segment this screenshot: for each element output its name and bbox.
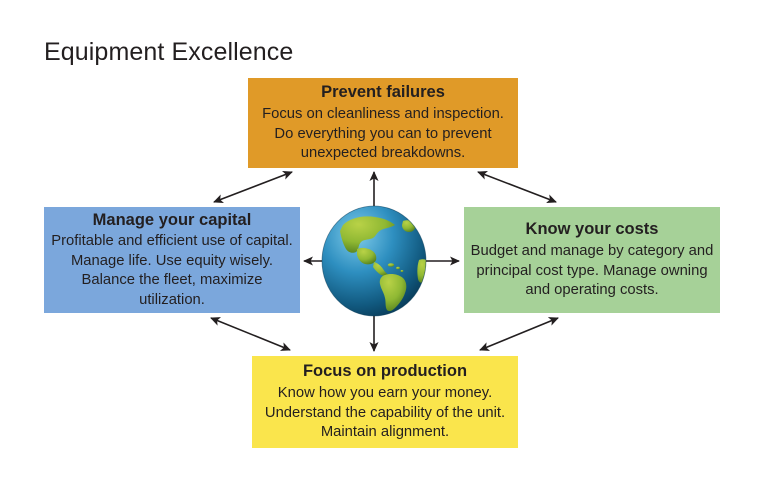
diagram-canvas: Equipment Excellence — [0, 0, 769, 500]
arrow-left-top — [214, 172, 292, 202]
arrow-left-bottom — [211, 318, 290, 350]
node-focus-on-production[interactable]: Focus on production Know how you earn yo… — [252, 356, 518, 448]
node-body: Focus on cleanliness and inspection. Do … — [254, 105, 512, 164]
node-body: Budget and manage by category and princi… — [470, 242, 714, 301]
node-heading: Know your costs — [526, 219, 659, 241]
node-heading: Prevent failures — [321, 82, 445, 104]
arrow-top-right — [478, 172, 556, 202]
arrow-bottom-right — [480, 318, 558, 350]
globe-icon — [319, 205, 429, 317]
node-body: Profitable and efficient use of capital.… — [50, 232, 294, 310]
node-heading: Manage your capital — [93, 210, 252, 232]
node-heading: Focus on production — [303, 361, 467, 383]
node-prevent-failures[interactable]: Prevent failures Focus on cleanliness an… — [248, 78, 518, 168]
page-title: Equipment Excellence — [44, 38, 293, 67]
node-body: Know how you earn your money. Understand… — [258, 384, 512, 443]
node-manage-your-capital[interactable]: Manage your capital Profitable and effic… — [44, 207, 300, 313]
node-know-your-costs[interactable]: Know your costs Budget and manage by cat… — [464, 207, 720, 313]
